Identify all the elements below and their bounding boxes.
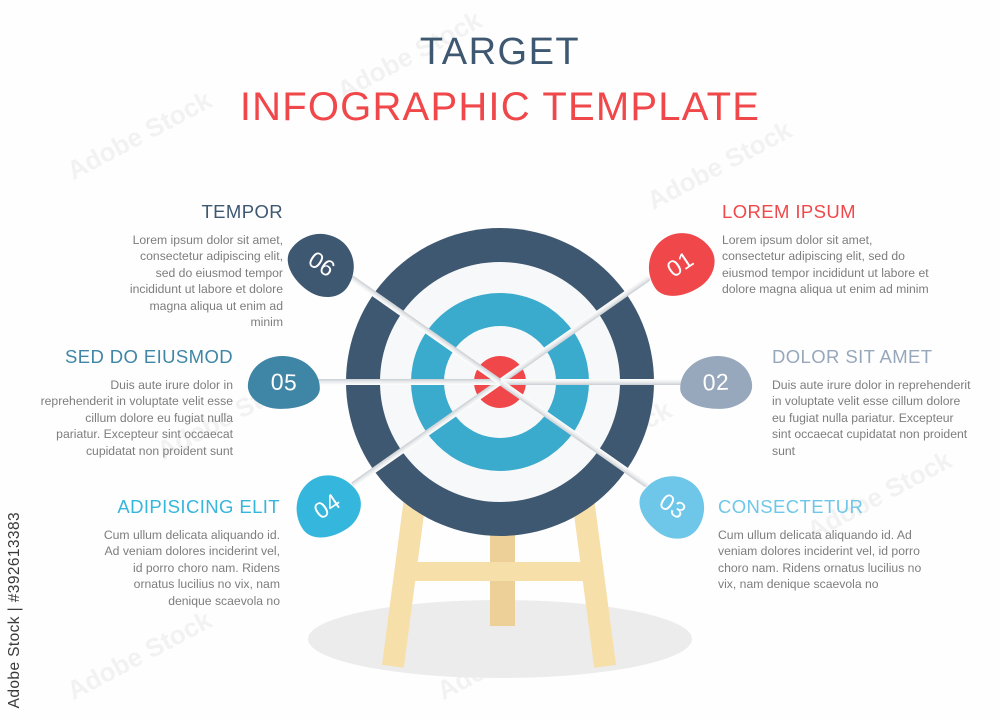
watermark-tile: Adobe Stock	[62, 605, 217, 707]
info-body-01: Lorem ipsum dolor sit amet, consectetur …	[722, 232, 932, 298]
dart-shaft-05	[304, 379, 500, 385]
title-line-1: TARGET	[0, 28, 1000, 76]
info-body-04: Cum ullum delicata aliquando id. Ad veni…	[100, 527, 280, 609]
title-line-2: INFOGRAPHIC TEMPLATE	[0, 80, 1000, 134]
info-block-01: LOREM IPSUM Lorem ipsum dolor sit amet, …	[722, 200, 932, 298]
dart-flight-05[interactable]: 05	[247, 355, 321, 410]
info-title-01: LOREM IPSUM	[722, 200, 932, 224]
info-title-03: CONSECTETUR	[718, 495, 923, 519]
info-body-06: Lorem ipsum dolor sit amet, consectetur …	[128, 232, 283, 330]
info-body-02: Duis aute irure dolor in reprehenderit i…	[772, 377, 972, 459]
stock-watermark-id: Adobe Stock | #392613383	[6, 512, 24, 708]
info-title-06: TEMPOR	[128, 200, 283, 224]
dart-shaft-02	[500, 379, 696, 385]
infographic-canvas: Adobe Stock Adobe Stock Adobe Stock Adob…	[0, 0, 1000, 720]
info-block-05: SED DO EIUSMOD Duis aute irure dolor in …	[38, 345, 233, 459]
dart-number-02: 02	[679, 355, 753, 410]
info-title-02: DOLOR SIT AMET	[772, 345, 972, 369]
info-block-03: CONSECTETUR Cum ullum delicata aliquando…	[718, 495, 923, 593]
info-block-02: DOLOR SIT AMET Duis aute irure dolor in …	[772, 345, 972, 459]
easel-crossbar	[412, 562, 592, 581]
dart-number-05: 05	[247, 355, 321, 410]
dart-flight-02[interactable]: 02	[679, 355, 753, 410]
page-title: TARGET INFOGRAPHIC TEMPLATE	[0, 28, 1000, 134]
info-body-05: Duis aute irure dolor in reprehenderit i…	[38, 377, 233, 459]
info-block-06: TEMPOR Lorem ipsum dolor sit amet, conse…	[128, 200, 283, 330]
info-body-03: Cum ullum delicata aliquando id. Ad veni…	[718, 527, 923, 593]
info-title-05: SED DO EIUSMOD	[38, 345, 233, 369]
info-block-04: ADIPISICING ELIT Cum ullum delicata aliq…	[100, 495, 280, 609]
info-title-04: ADIPISICING ELIT	[100, 495, 280, 519]
easel-center-post-bottom	[490, 578, 515, 626]
